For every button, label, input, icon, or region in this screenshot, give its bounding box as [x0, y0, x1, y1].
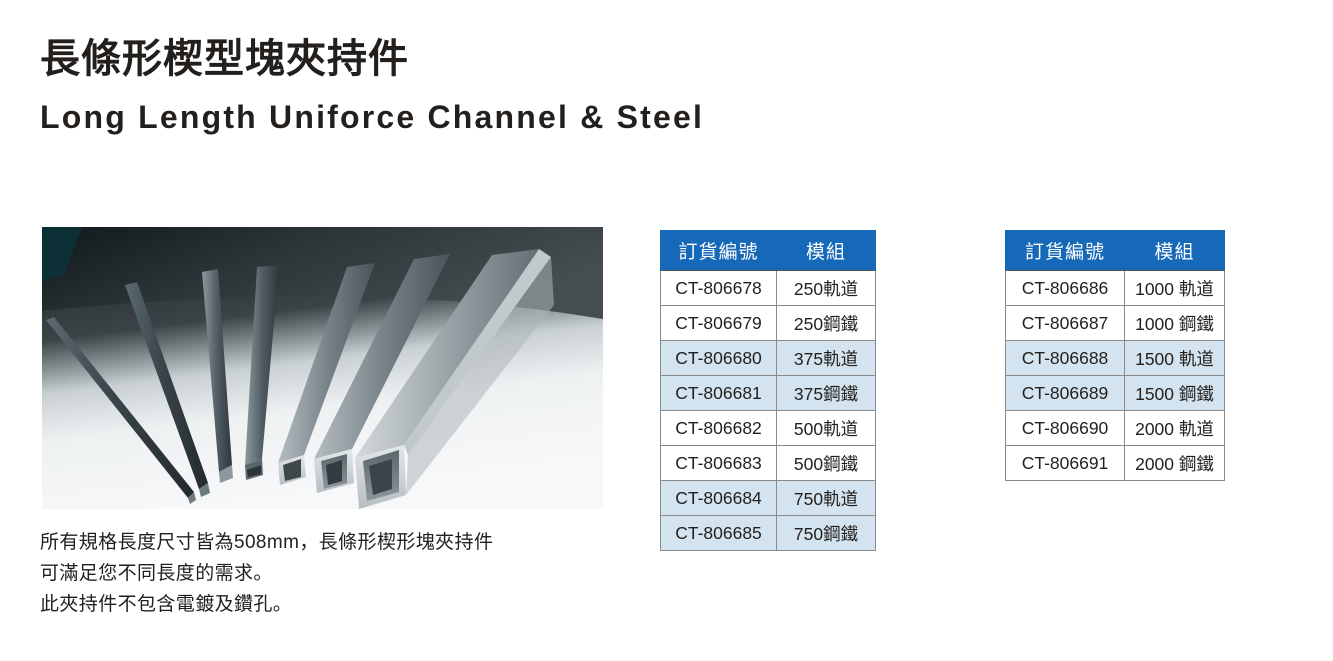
description-line-3: 此夾持件不包含電鍍及鑽孔。	[40, 590, 493, 621]
cell-model: 2000 鋼鐵	[1125, 446, 1225, 481]
cell-part-number: CT-806690	[1006, 411, 1125, 446]
part-number-table-long-lengths: 訂貨編號 模組 CT-8066861000 軌道CT-8066871000 鋼鐵…	[1005, 230, 1225, 481]
product-description: 所有規格長度尺寸皆為508mm，長條形楔形塊夾持件 可滿足您不同長度的需求。 此…	[40, 528, 493, 620]
cell-model: 250鋼鐵	[777, 306, 876, 341]
table-header-row: 訂貨編號 模組	[1006, 231, 1225, 271]
cell-model: 500鋼鐵	[777, 446, 876, 481]
cell-part-number: CT-806691	[1006, 446, 1125, 481]
column-header-model: 模組	[1125, 231, 1225, 271]
table-row: CT-806684750軌道	[661, 481, 876, 516]
table-row: CT-8066871000 鋼鐵	[1006, 306, 1225, 341]
cell-part-number: CT-806684	[661, 481, 777, 516]
cell-model: 250軌道	[777, 271, 876, 306]
cell-part-number: CT-806688	[1006, 341, 1125, 376]
description-line-1: 所有規格長度尺寸皆為508mm，長條形楔形塊夾持件	[40, 528, 493, 559]
table-row: CT-8066881500 軌道	[1006, 341, 1225, 376]
table-row: CT-8066861000 軌道	[1006, 271, 1225, 306]
column-header-model: 模組	[777, 231, 876, 271]
table-row: CT-8066902000 軌道	[1006, 411, 1225, 446]
cell-part-number: CT-806680	[661, 341, 777, 376]
table-row: CT-806682500軌道	[661, 411, 876, 446]
cell-model: 500軌道	[777, 411, 876, 446]
cell-part-number: CT-806689	[1006, 376, 1125, 411]
table-two-header: 訂貨編號 模組	[1006, 231, 1225, 271]
table-row: CT-806680375軌道	[661, 341, 876, 376]
cell-part-number: CT-806681	[661, 376, 777, 411]
part-number-table-short-lengths: 訂貨編號 模組 CT-806678250軌道CT-806679250鋼鐵CT-8…	[660, 230, 876, 551]
table-two-body: CT-8066861000 軌道CT-8066871000 鋼鐵CT-80668…	[1006, 271, 1225, 481]
cell-model: 375軌道	[777, 341, 876, 376]
table-row: CT-806685750鋼鐵	[661, 516, 876, 551]
product-photo	[42, 227, 603, 509]
cell-part-number: CT-806687	[1006, 306, 1125, 341]
cell-model: 1000 鋼鐵	[1125, 306, 1225, 341]
cell-part-number: CT-806685	[661, 516, 777, 551]
cell-model: 750軌道	[777, 481, 876, 516]
table-row: CT-806678250軌道	[661, 271, 876, 306]
table-row: CT-8066891500 鋼鐵	[1006, 376, 1225, 411]
cell-part-number: CT-806679	[661, 306, 777, 341]
table-row: CT-8066912000 鋼鐵	[1006, 446, 1225, 481]
table-row: CT-806681375鋼鐵	[661, 376, 876, 411]
product-photo-illustration	[42, 227, 603, 509]
page-title-chinese: 長條形楔型塊夾持件	[40, 38, 409, 81]
product-catalog-page: 長條形楔型塊夾持件 Long Length Uniforce Channel &…	[0, 0, 1333, 661]
cell-model: 2000 軌道	[1125, 411, 1225, 446]
cell-model: 375鋼鐵	[777, 376, 876, 411]
cell-part-number: CT-806683	[661, 446, 777, 481]
table-one-body: CT-806678250軌道CT-806679250鋼鐵CT-806680375…	[661, 271, 876, 551]
table-row: CT-806679250鋼鐵	[661, 306, 876, 341]
column-header-part-number: 訂貨編號	[661, 231, 777, 271]
cell-part-number: CT-806686	[1006, 271, 1125, 306]
cell-part-number: CT-806678	[661, 271, 777, 306]
cell-model: 1500 軌道	[1125, 341, 1225, 376]
page-title-english: Long Length Uniforce Channel & Steel	[40, 100, 704, 135]
cell-model: 1000 軌道	[1125, 271, 1225, 306]
table-one-header: 訂貨編號 模組	[661, 231, 876, 271]
table-header-row: 訂貨編號 模組	[661, 231, 876, 271]
column-header-part-number: 訂貨編號	[1006, 231, 1125, 271]
cell-part-number: CT-806682	[661, 411, 777, 446]
cell-model: 1500 鋼鐵	[1125, 376, 1225, 411]
cell-model: 750鋼鐵	[777, 516, 876, 551]
description-line-2: 可滿足您不同長度的需求。	[40, 559, 493, 590]
table-row: CT-806683500鋼鐵	[661, 446, 876, 481]
